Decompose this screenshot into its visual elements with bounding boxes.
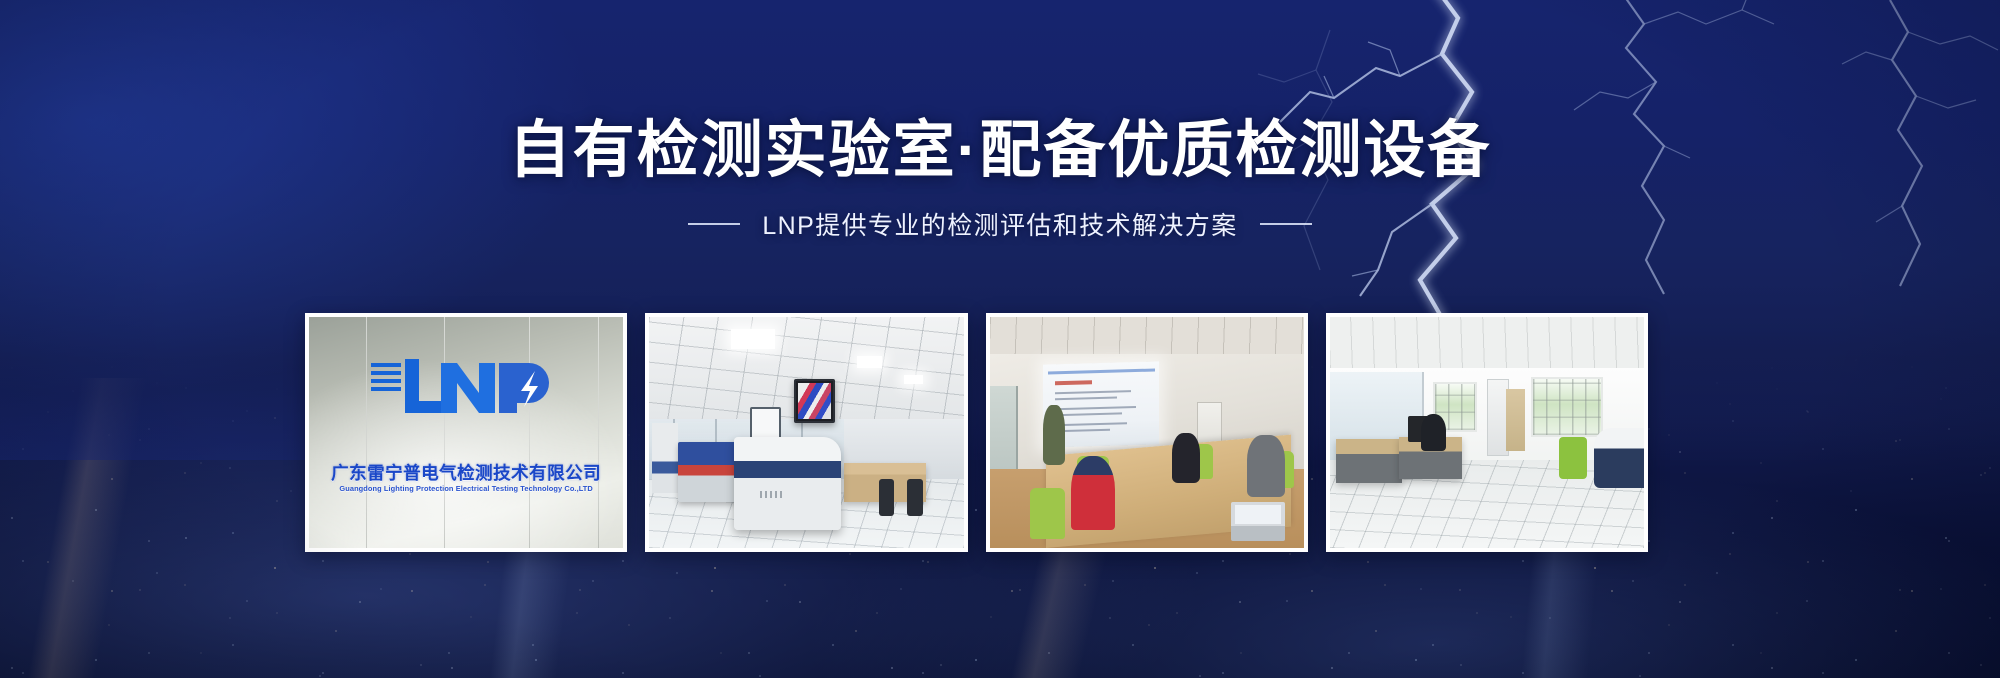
gallery-photo-meeting[interactable] xyxy=(986,313,1308,552)
rule-left-icon xyxy=(688,223,740,225)
photo-gallery: 广东雷宁普电气检测技术有限公司 Guangdong Lighting Prote… xyxy=(305,313,1648,552)
headline-block: 自有检测实验室·配备优质检测设备 LNP提供专业的检测评估和技术解决方案 xyxy=(0,118,2000,242)
attendee-figure-red xyxy=(1071,456,1115,530)
photo-frame-inner xyxy=(1330,317,1644,548)
laptop-icon xyxy=(1231,502,1284,541)
signage-caption-cn: 广东雷宁普电气检测技术有限公司 xyxy=(331,460,601,485)
office-worker-figure xyxy=(1421,414,1446,451)
gallery-photo-laboratory[interactable] xyxy=(645,313,967,552)
page-title: 自有检测实验室·配备优质检测设备 xyxy=(0,118,2000,184)
laboratory-scene xyxy=(649,317,963,548)
signage-wall: 广东雷宁普电气检测技术有限公司 Guangdong Lighting Prote… xyxy=(309,317,623,548)
hero-banner: 自有检测实验室·配备优质检测设备 LNP提供专业的检测评估和技术解决方案 xyxy=(0,0,2000,678)
page-subtitle: LNP提供专业的检测评估和技术解决方案 xyxy=(762,206,1237,242)
wall-monitor-icon xyxy=(794,379,835,423)
meeting-room-scene xyxy=(990,317,1304,548)
presenter-figure xyxy=(1043,405,1065,465)
office-scene xyxy=(1330,317,1644,548)
green-chair-icon xyxy=(1559,437,1587,479)
lnp-logo-icon xyxy=(367,353,565,419)
rule-right-icon xyxy=(1260,223,1312,225)
attendee-figure-dark xyxy=(1172,433,1200,484)
signage-caption-en: Guangdong Lighting Protection Electrical… xyxy=(339,484,592,493)
photo-frame-inner: 广东雷宁普电气检测技术有限公司 Guangdong Lighting Prote… xyxy=(309,317,623,548)
gallery-photo-office[interactable] xyxy=(1326,313,1648,552)
photo-frame-inner xyxy=(990,317,1304,548)
attendee-figure-grey xyxy=(1247,435,1285,497)
gallery-photo-signage[interactable]: 广东雷宁普电气检测技术有限公司 Guangdong Lighting Prote… xyxy=(305,313,627,552)
photo-frame-inner xyxy=(649,317,963,548)
subtitle-row: LNP提供专业的检测评估和技术解决方案 xyxy=(0,206,2000,242)
